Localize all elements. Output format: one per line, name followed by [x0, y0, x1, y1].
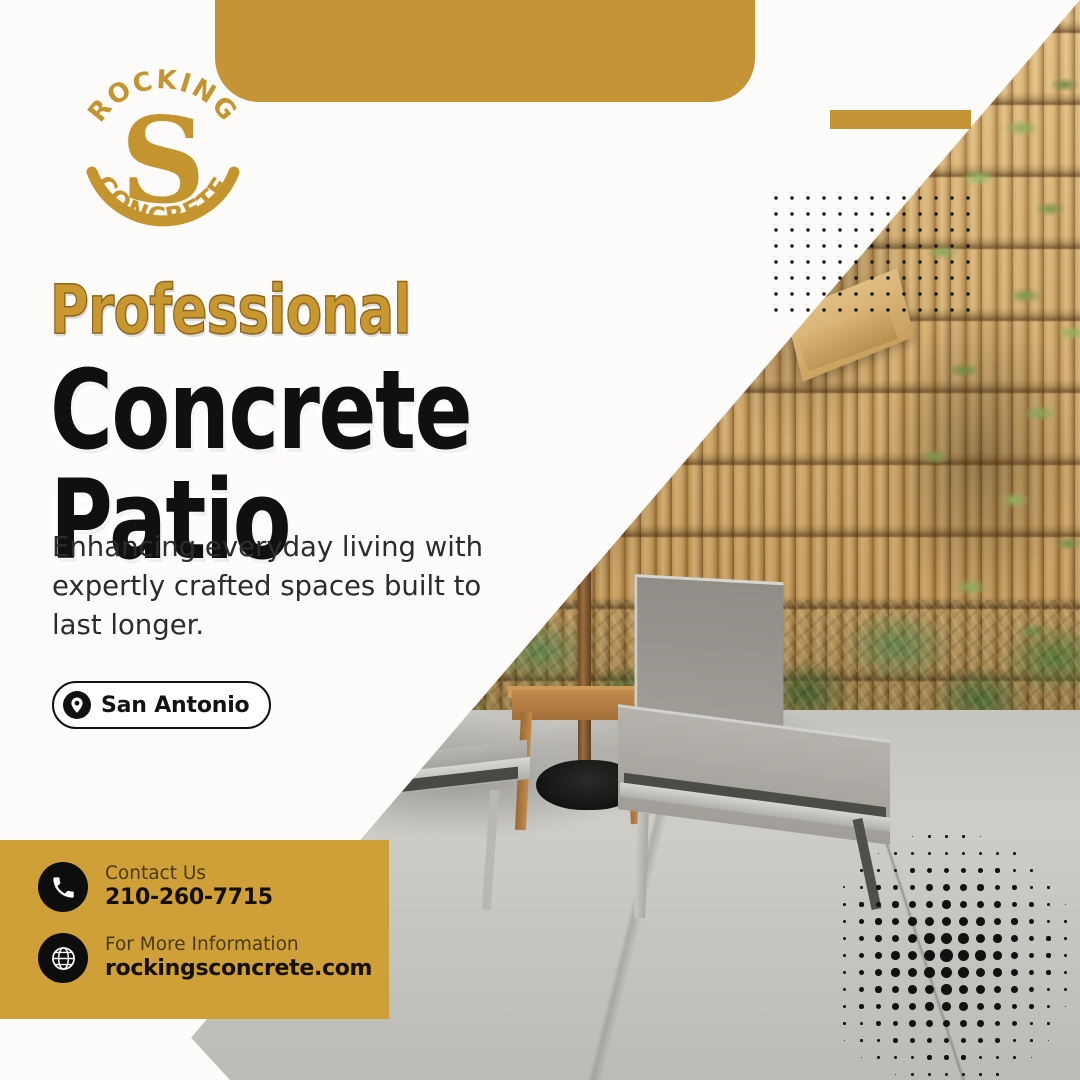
contact-row-phone[interactable]: Contact Us 210-260-7715 [38, 862, 389, 912]
contact-panel: Contact Us 210-260-7715 For More Informa… [0, 840, 389, 1019]
contact-website: rockingsconcrete.com [105, 956, 372, 981]
headline-eyebrow: Professional [50, 278, 534, 343]
brand-logo[interactable]: ROCKING S CONCRETE [78, 54, 248, 250]
contact-label: Contact Us [105, 863, 206, 884]
top-gold-banner [215, 0, 755, 102]
gold-accent-bar [830, 110, 971, 129]
climbing-foliage [910, 60, 1080, 680]
contact-row-website[interactable]: For More Information rockingsconcrete.co… [38, 933, 389, 983]
halftone-dot-pattern [836, 828, 1080, 1080]
contact-phone-number: 210-260-7715 [105, 885, 273, 910]
map-pin-icon [62, 690, 92, 720]
poster-canvas: ROCKING S CONCRETE Professional Concrete… [0, 0, 1080, 1080]
phone-icon [38, 862, 88, 912]
dot-grid-pattern [768, 190, 980, 314]
description-text: Enhancing everyday living with expertly … [52, 528, 522, 645]
globe-icon [38, 933, 88, 983]
umbrella-pole [578, 560, 591, 790]
location-badge[interactable]: San Antonio [52, 681, 271, 729]
contact-label: For More Information [105, 934, 299, 955]
location-label: San Antonio [101, 693, 249, 718]
